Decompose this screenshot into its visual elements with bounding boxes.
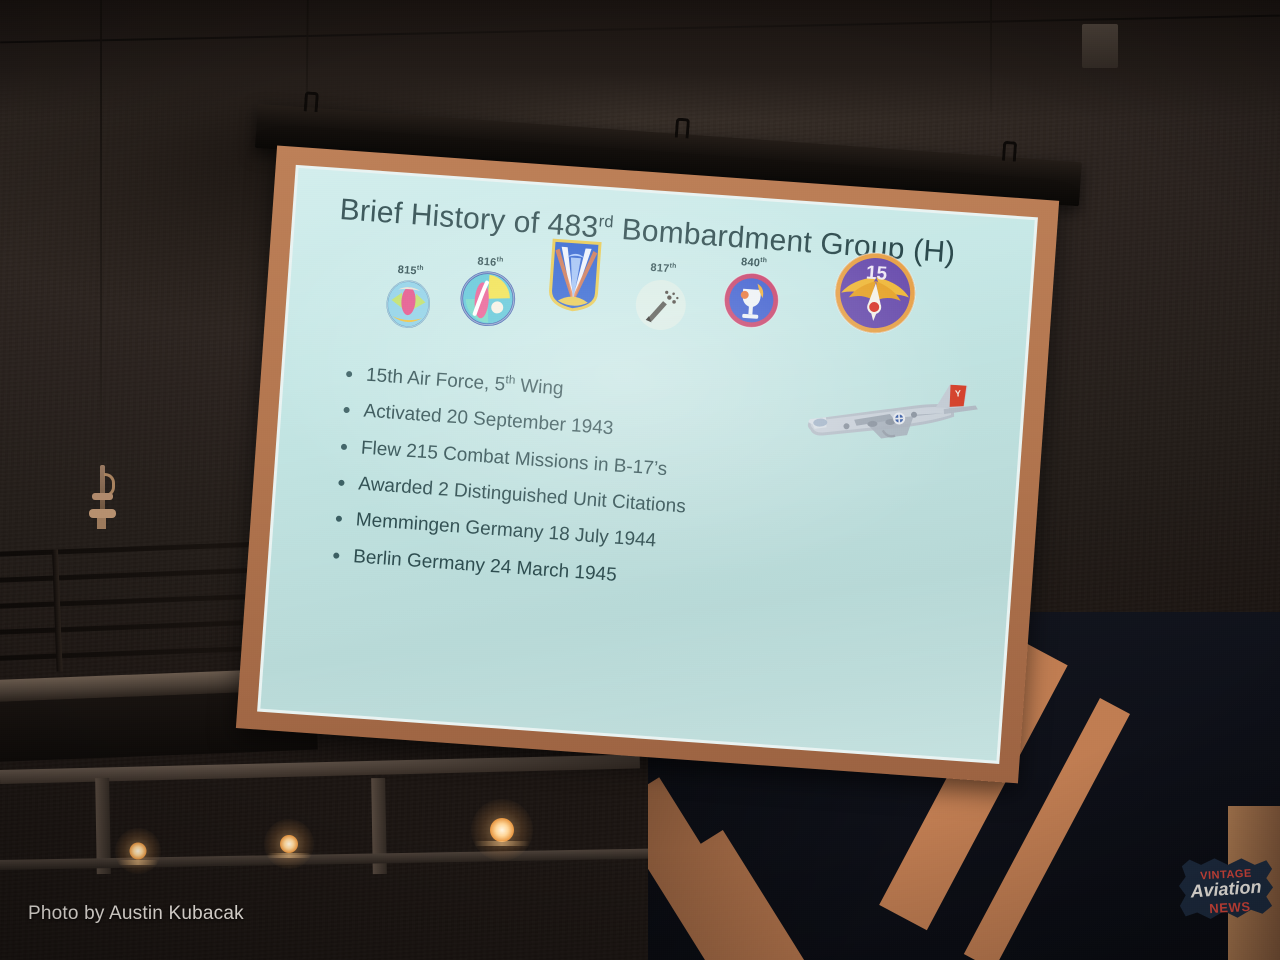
vintage-aviation-news-watermark[interactable]: VINTAGE Aviation NEWS [1178,857,1274,923]
svg-text:15: 15 [865,262,888,284]
817th-squadron-emblem: 817th [626,260,697,340]
light-bulb [490,818,514,842]
pulley-base [89,509,116,518]
ceiling-light-1 [118,831,158,871]
valance-bracket [1002,141,1017,162]
light-streak [118,860,158,865]
svg-text:Y: Y [955,388,962,398]
815th-squadron-emblem: 815th [375,262,442,336]
hanging-cable [990,0,992,112]
b-17-flying-fortress-photo: Y [792,374,982,467]
emblem-art: 15 [826,248,924,343]
light-bulb [280,835,298,853]
photograph-scene: Brief History of 483rd Bombardment Group… [0,0,1280,960]
emblem-art [452,268,524,334]
emblem-art [626,274,696,340]
light-streak [474,841,530,846]
pulley-collar [92,493,113,500]
slide-title-ordinal: rd [598,212,614,231]
emblem-art [533,235,616,319]
valance-bracket [675,118,690,139]
840th-squadron-emblem: 840th [714,254,789,336]
wall-mounted-box [1082,24,1118,68]
emblem-art [714,269,788,337]
watermark-line-news: NEWS [1192,898,1269,917]
presentation-slide: Brief History of 483rd Bombardment Group… [260,168,1034,761]
projector-screen-assembly: Brief History of 483rd Bombardment Group… [214,104,1076,790]
pulley-hook [88,465,116,545]
ceiling-light-2 [268,823,310,865]
slide-bullet-list: 15th Air Force, 5th Wing Activated 20 Se… [328,362,812,613]
photo-credit: Photo by Austin Kubacak [28,903,244,925]
816th-squadron-emblem: 816th [452,253,525,333]
screen-frame: Brief History of 483rd Bombardment Group… [236,145,1059,783]
light-bulb [130,843,147,860]
hanging-cable [100,0,102,470]
light-streak [267,853,311,858]
emblem-art [375,277,441,336]
valance-bracket [304,91,319,112]
ceiling-light-3 [477,805,527,855]
483rd-group-shield-emblem [533,235,616,319]
15th-air-force-emblem: 15 [826,248,924,343]
